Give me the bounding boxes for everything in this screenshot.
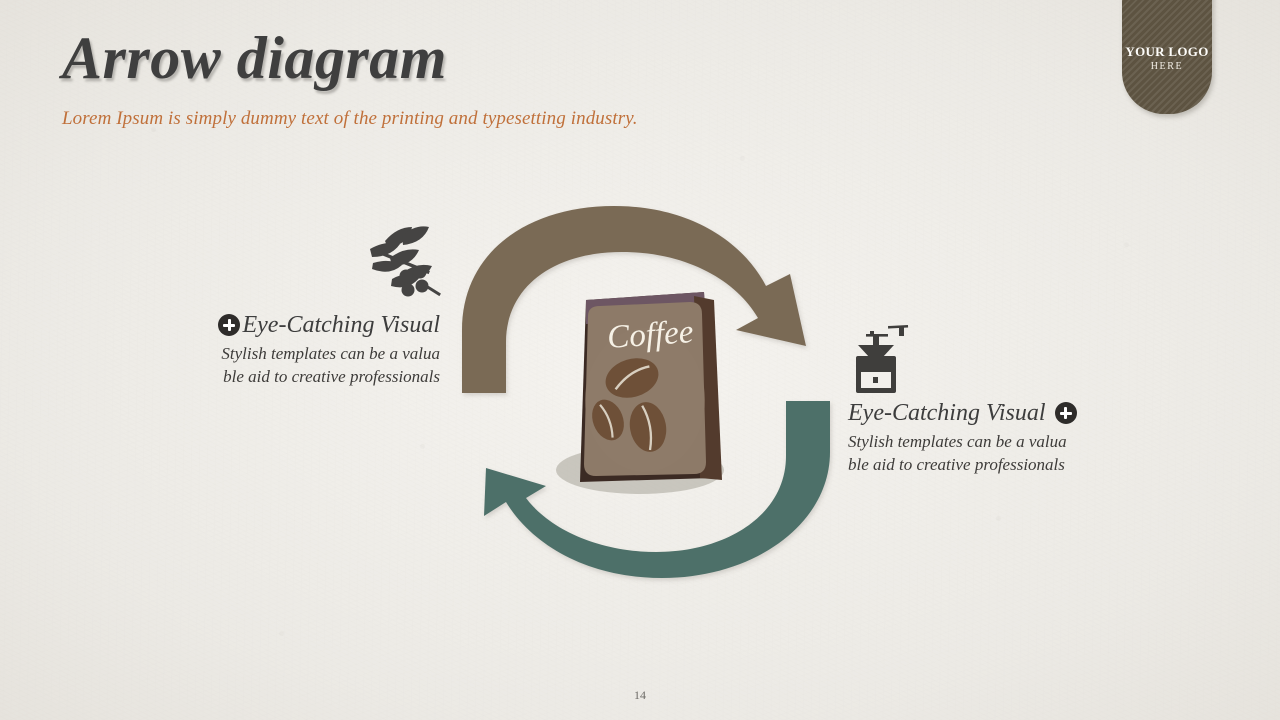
block-right-body: Stylish templates can be a valua ble aid… <box>848 431 1168 476</box>
block-right-heading-row: Eye-Catching Visual <box>848 400 1168 426</box>
bag-brand-text: Coffee <box>606 314 694 356</box>
block-left-body: Stylish templates can be a valua ble aid… <box>140 343 440 388</box>
plus-icon[interactable] <box>1055 402 1077 424</box>
text-block-right[interactable]: Eye-Catching Visual Stylish templates ca… <box>848 400 1168 476</box>
text-block-left[interactable]: Eye-Catching Visual Stylish templates ca… <box>140 312 440 388</box>
plus-icon[interactable] <box>218 314 240 336</box>
block-left-heading: Eye-Catching Visual <box>242 312 440 338</box>
coffee-branch-icon <box>370 226 441 296</box>
coffee-bag-illustration: Coffee <box>556 292 724 494</box>
page-number: 14 <box>0 688 1280 703</box>
coffee-grinder-icon <box>856 325 908 393</box>
slide-canvas: Arrow diagram Lorem Ipsum is simply dumm… <box>0 0 1280 720</box>
arrow-diagram: Coffee <box>0 0 1280 720</box>
block-left-heading-row: Eye-Catching Visual <box>140 312 440 338</box>
block-right-heading: Eye-Catching Visual <box>848 400 1046 426</box>
